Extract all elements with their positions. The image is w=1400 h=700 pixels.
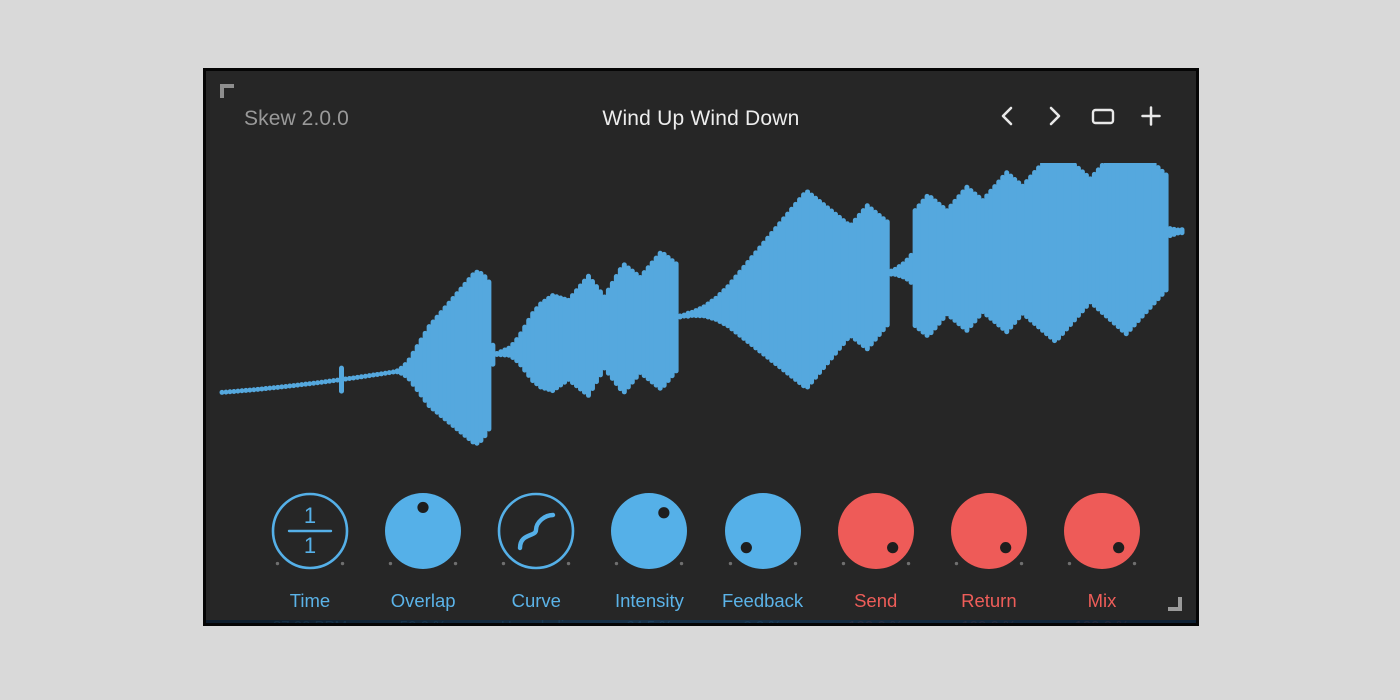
knob-dial-intensity xyxy=(604,489,694,579)
knob-value-curve[interactable]: Hyperbolic xyxy=(501,619,572,627)
rectangle-icon xyxy=(1090,105,1116,127)
knob-label-mix: Mix xyxy=(1088,592,1117,611)
knob-label-curve: Curve xyxy=(512,592,561,611)
knob-cell-feedback: Feedback0.0 % xyxy=(707,489,819,626)
resize-window-button[interactable] xyxy=(1088,99,1118,133)
knob-body xyxy=(951,493,1027,569)
knob-tick-min xyxy=(728,562,731,565)
knob-dial-overlap xyxy=(378,489,468,579)
knob-tick-min xyxy=(1068,562,1071,565)
chevron-left-icon xyxy=(998,105,1016,127)
knob-indicator-dot xyxy=(1113,542,1124,553)
knob-time[interactable]: 11 xyxy=(265,489,355,579)
knob-cell-overlap: Overlap50.0 % xyxy=(367,489,479,626)
next-preset-button[interactable] xyxy=(1040,99,1070,133)
knob-tick-max xyxy=(454,562,457,565)
knob-tick-max xyxy=(680,562,683,565)
knob-feedback[interactable] xyxy=(718,489,808,579)
knob-body xyxy=(1064,493,1140,569)
knob-value-time[interactable]: 87.00 BPM xyxy=(273,619,347,627)
knob-cell-return: Return100.0 % xyxy=(933,489,1045,626)
knob-body xyxy=(838,493,914,569)
knob-dial-return xyxy=(944,489,1034,579)
knob-body xyxy=(725,493,801,569)
knob-indicator-dot xyxy=(659,507,670,518)
knob-label-intensity: Intensity xyxy=(615,592,684,611)
resize-corner-bottom-right-icon[interactable] xyxy=(1168,597,1182,611)
knob-cell-mix: Mix100.0 % xyxy=(1046,489,1158,626)
fraction-numerator: 1 xyxy=(304,503,316,528)
knob-send[interactable] xyxy=(831,489,921,579)
knob-return[interactable] xyxy=(944,489,1034,579)
knob-indicator-dot xyxy=(887,542,898,553)
knob-tick-min xyxy=(502,562,505,565)
knob-value-return[interactable]: 100.0 % xyxy=(961,619,1016,627)
knob-tick-max xyxy=(1133,562,1136,565)
knob-tick-min xyxy=(955,562,958,565)
knob-mix[interactable] xyxy=(1057,489,1147,579)
knob-tick-min xyxy=(615,562,618,565)
plus-icon xyxy=(1140,105,1162,127)
screen: Skew 2.0.0 Wind Up Wind Down xyxy=(0,0,1400,700)
waveform-bars xyxy=(220,163,1185,446)
waveform-bar xyxy=(1180,227,1185,235)
waveform-canvas xyxy=(206,163,1196,473)
knob-indicator-dot xyxy=(1000,542,1011,553)
knob-label-overlap: Overlap xyxy=(391,592,456,611)
fraction-denominator: 1 xyxy=(304,533,316,558)
knob-dial-time: 11 xyxy=(265,489,355,579)
knob-tick-max xyxy=(1020,562,1023,565)
add-preset-button[interactable] xyxy=(1136,99,1166,133)
knob-tick-min xyxy=(841,562,844,565)
knob-cell-send: Send100.0 % xyxy=(820,489,932,626)
knob-value-mix[interactable]: 100.0 % xyxy=(1074,619,1129,627)
knob-label-feedback: Feedback xyxy=(722,592,803,611)
knob-tick-max xyxy=(793,562,796,565)
knob-indicator-dot xyxy=(418,502,429,513)
knob-value-feedback[interactable]: 0.0 % xyxy=(743,619,781,627)
knob-cell-curve: CurveHyperbolic xyxy=(480,489,592,626)
knob-dial-send xyxy=(831,489,921,579)
knob-tick-max xyxy=(341,562,344,565)
knob-dial-curve xyxy=(491,489,581,579)
knob-body xyxy=(611,493,687,569)
knob-value-send[interactable]: 100.0 % xyxy=(848,619,903,627)
knob-tick-max xyxy=(907,562,910,565)
knob-tick-min xyxy=(276,562,279,565)
knob-cell-time: 11Time87.00 BPM xyxy=(254,489,366,626)
plugin-window: Skew 2.0.0 Wind Up Wind Down xyxy=(203,68,1199,626)
knob-indicator-dot xyxy=(740,542,751,553)
knob-overlap[interactable] xyxy=(378,489,468,579)
knob-value-overlap[interactable]: 50.0 % xyxy=(400,619,447,627)
knob-dial-feedback xyxy=(718,489,808,579)
chevron-right-icon xyxy=(1046,105,1064,127)
knob-value-intensity[interactable]: 64.5 % xyxy=(626,619,673,627)
knob-tick-min xyxy=(389,562,392,565)
knob-intensity[interactable] xyxy=(604,489,694,579)
header-tool-group xyxy=(992,99,1166,133)
parameter-knob-row: 11Time87.00 BPMOverlap50.0 %CurveHyperbo… xyxy=(254,489,1158,626)
knob-curve[interactable] xyxy=(491,489,581,579)
knob-dial-mix xyxy=(1057,489,1147,579)
knob-label-time: Time xyxy=(290,592,330,611)
knob-cell-intensity: Intensity64.5 % xyxy=(593,489,705,626)
s-curve-icon xyxy=(520,515,553,548)
plugin-header: Skew 2.0.0 Wind Up Wind Down xyxy=(206,71,1196,163)
knob-label-send: Send xyxy=(854,592,897,611)
knob-label-return: Return xyxy=(961,592,1017,611)
prev-preset-button[interactable] xyxy=(992,99,1022,133)
audio-waveform-display[interactable] xyxy=(206,163,1196,473)
knob-tick-max xyxy=(567,562,570,565)
